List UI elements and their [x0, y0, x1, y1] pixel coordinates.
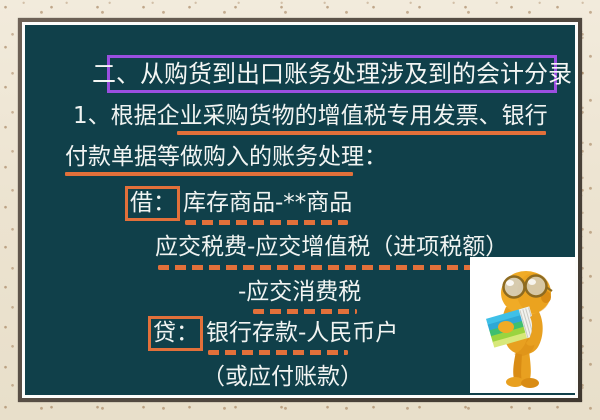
frame-bevel: 二、从购货到出口账务处理涉及到的会计分录 1、根据企业采购货物的增值税专用发票、…	[18, 18, 582, 402]
slide-board: 二、从购货到出口账务处理涉及到的会计分录 1、根据企业采购货物的增值税专用发票、…	[25, 25, 575, 395]
slide-title-box: 二、从购货到出口账务处理涉及到的会计分录	[107, 55, 557, 93]
body-line-4: 应交税费-应交增值税（进项税额）	[155, 236, 508, 259]
body-line-1: 1、根据企业采购货物的增值税专用发票、银行	[73, 105, 548, 128]
body-line-3: 库存商品-**商品	[183, 192, 352, 215]
credit-label-box: 贷：	[148, 316, 203, 351]
underline-line-2	[65, 172, 353, 176]
body-line-5: -应交消费税	[238, 281, 361, 304]
underline-line-1	[177, 131, 546, 135]
frame-inner-white-mat: 二、从购货到出口账务处理涉及到的会计分录 1、根据企业采购货物的增值税专用发票、…	[22, 22, 578, 398]
underline-line-4	[158, 265, 471, 270]
page-title: 二、从购货到出口账务处理涉及到的会计分录	[92, 62, 572, 86]
underline-line-5	[253, 309, 357, 314]
debit-label-box: 借：	[125, 186, 180, 221]
body-line-6: 银行存款-人民币户	[206, 322, 398, 345]
orange-character-with-books-icon	[470, 257, 575, 393]
body-line-2: 付款单据等做购入的账务处理：	[65, 146, 387, 169]
mascot-image-card	[470, 257, 575, 393]
underline-line-6	[208, 350, 348, 355]
body-line-7: （或应付账款）	[202, 366, 363, 389]
slide-frame: 二、从购货到出口账务处理涉及到的会计分录 1、根据企业采购货物的增值税专用发票、…	[0, 0, 600, 420]
underline-line-3	[185, 220, 348, 225]
